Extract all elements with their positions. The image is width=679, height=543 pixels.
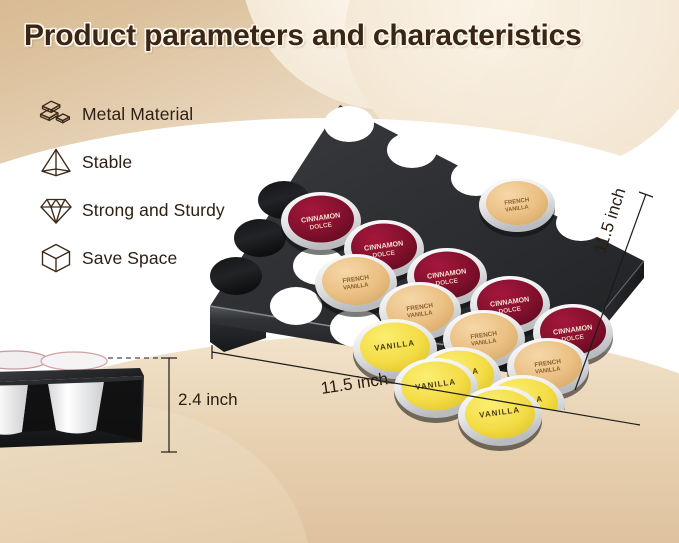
side-view-illustration xyxy=(0,330,172,455)
k-cup xyxy=(48,382,104,434)
metal-bars-icon xyxy=(36,96,76,132)
cube-icon xyxy=(36,240,76,276)
product-reflection: VANILLA VANILLA xyxy=(300,418,679,543)
feature-label: Metal Material xyxy=(82,104,193,125)
dimension-label-height: 2.4 inch xyxy=(178,390,238,410)
side-rack-inner-shadow xyxy=(96,380,142,440)
product-infographic: Product parameters and characteristics M… xyxy=(0,0,679,543)
product-image-side-view xyxy=(0,330,172,455)
feature-label: Save Space xyxy=(82,248,177,269)
pyramid-icon xyxy=(36,144,76,180)
page-title: Product parameters and characteristics xyxy=(24,19,582,53)
feature-label: Stable xyxy=(82,152,132,173)
diamond-icon xyxy=(36,192,76,228)
pod-lid xyxy=(41,352,107,370)
